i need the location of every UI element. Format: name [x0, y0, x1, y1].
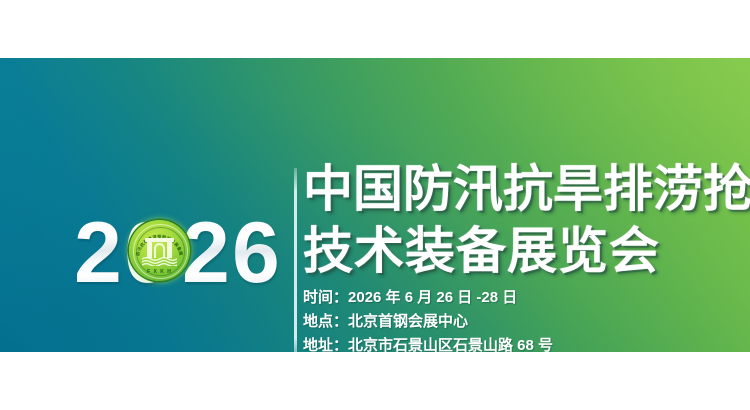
logo-abbreviation: F X K H	[129, 269, 190, 275]
event-title-line-1: 中国防汛抗旱排涝抢	[303, 158, 750, 220]
organization-logo-icon: 中国防汛抗旱排涝抢险技术装备展览会 F X K H	[129, 220, 190, 281]
water-waves-icon	[142, 257, 177, 266]
event-info-address-value: 北京市石景山区石景山路 68 号	[348, 337, 553, 352]
gate-pillar-right	[167, 242, 172, 258]
event-info-venue: 地点：北京首钢会展中心	[303, 310, 733, 334]
event-info-list: 时间：2026 年 6 月 26 日 -28 日 地点：北京首钢会展中心 地址：…	[303, 286, 733, 352]
gate-pillar-left	[147, 242, 152, 258]
event-info-date-value: 2026 年 6 月 26 日 -28 日	[348, 289, 517, 306]
event-info-venue-value: 北京首钢会展中心	[348, 313, 468, 330]
event-title-line-2: 技术装备展览会	[303, 220, 750, 282]
vertical-divider	[294, 168, 297, 352]
year-digit-1: 2	[74, 210, 120, 296]
event-info-date-label: 时间：	[303, 289, 348, 306]
year-digit-4: 6	[232, 210, 278, 296]
event-info-address: 地址：北京市石景山区石景山路 68 号	[303, 334, 733, 352]
event-title: 中国防汛抗旱排涝抢 技术装备展览会	[303, 158, 750, 282]
dam-gate-icon	[145, 238, 174, 258]
event-info-address-label: 地址：	[303, 337, 348, 352]
event-banner: 2 0 2 6 中国防汛抗旱排涝抢险技术装备展览会	[0, 58, 750, 352]
event-info-venue-label: 地点：	[303, 313, 348, 330]
event-info-date: 时间：2026 年 6 月 26 日 -28 日	[303, 286, 733, 310]
gate-arch	[154, 243, 165, 258]
banner-canvas: 2 0 2 6 中国防汛抗旱排涝抢险技术装备展览会	[0, 0, 750, 410]
